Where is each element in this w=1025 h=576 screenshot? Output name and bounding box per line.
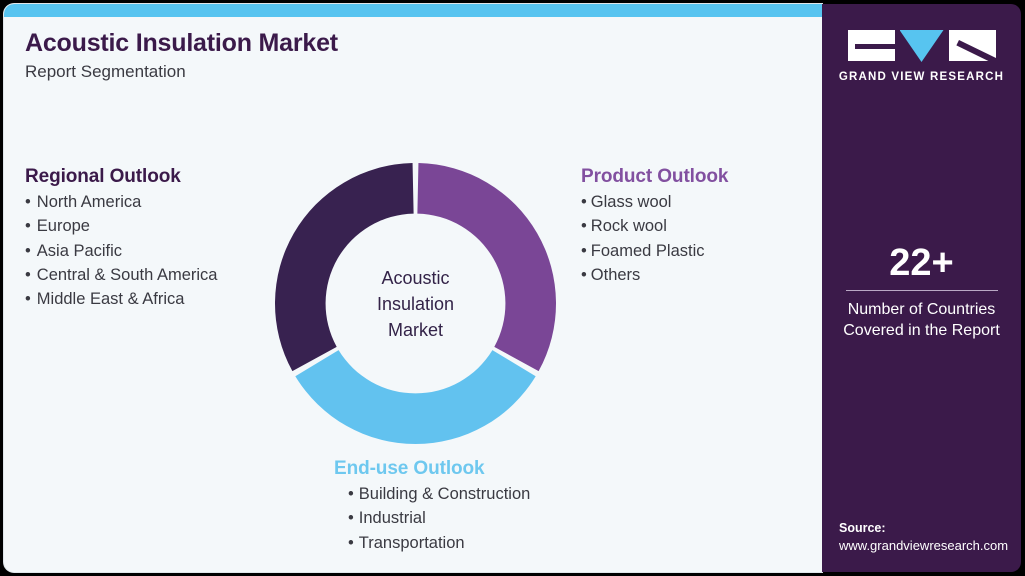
regional-outlook-list: North America Europe Asia Pacific Centra… bbox=[25, 190, 217, 311]
enduse-outlook-heading: End-use Outlook bbox=[334, 458, 530, 480]
stat-divider bbox=[846, 290, 998, 291]
list-item: North America bbox=[25, 190, 217, 214]
list-item: Rock wool bbox=[581, 214, 728, 238]
logo-v-triangle-icon bbox=[900, 30, 944, 62]
donut-segment-regional bbox=[275, 163, 414, 371]
list-item: Transportation bbox=[348, 531, 530, 555]
list-item: Middle East & Africa bbox=[25, 287, 217, 311]
countries-stat: 22+ Number of Countries Covered in the R… bbox=[822, 242, 1021, 341]
donut-svg bbox=[275, 163, 556, 444]
logo-marks bbox=[822, 30, 1021, 62]
product-outlook-block: Product Outlook Glass wool Rock wool Foa… bbox=[581, 166, 728, 287]
regional-outlook-heading: Regional Outlook bbox=[25, 166, 217, 188]
segmentation-donut-chart: Acoustic Insulation Market bbox=[275, 163, 556, 444]
product-outlook-list: Glass wool Rock wool Foamed Plastic Othe… bbox=[581, 190, 728, 287]
donut-segment-enduse bbox=[295, 350, 535, 444]
regional-outlook-block: Regional Outlook North America Europe As… bbox=[25, 166, 217, 311]
gvr-logo: GRAND VIEW RESEARCH bbox=[822, 30, 1021, 83]
poster-root: Acoustic Insulation Market Report Segmen… bbox=[0, 0, 1025, 576]
list-item: Glass wool bbox=[581, 190, 728, 214]
source-block: Source: www.grandviewresearch.com bbox=[839, 519, 1008, 555]
logo-g-icon bbox=[848, 30, 895, 61]
list-item: Industrial bbox=[348, 506, 530, 530]
product-outlook-heading: Product Outlook bbox=[581, 166, 728, 188]
enduse-outlook-block: End-use Outlook Building & Construction … bbox=[334, 458, 530, 555]
stat-label-line-1: Number of Countries bbox=[822, 299, 1021, 320]
list-item: Foamed Plastic bbox=[581, 239, 728, 263]
list-item: Asia Pacific bbox=[25, 239, 217, 263]
stat-label: Number of Countries Covered in the Repor… bbox=[822, 299, 1021, 341]
page-subtitle: Report Segmentation bbox=[25, 62, 186, 82]
enduse-outlook-list: Building & Construction Industrial Trans… bbox=[334, 482, 530, 555]
source-url[interactable]: www.grandviewresearch.com bbox=[839, 537, 1008, 555]
source-label: Source: bbox=[839, 519, 1008, 537]
logo-r-icon bbox=[949, 30, 996, 61]
donut-segment-product bbox=[417, 163, 556, 371]
main-card: Acoustic Insulation Market Report Segmen… bbox=[4, 4, 822, 572]
list-item: Central & South America bbox=[25, 263, 217, 287]
list-item: Others bbox=[581, 263, 728, 287]
stat-label-line-2: Covered in the Report bbox=[822, 320, 1021, 341]
logo-wordmark: GRAND VIEW RESEARCH bbox=[822, 71, 1021, 83]
list-item: Europe bbox=[25, 214, 217, 238]
stat-value: 22+ bbox=[822, 242, 1021, 284]
top-accent-bar bbox=[4, 4, 822, 17]
page-title: Acoustic Insulation Market bbox=[25, 29, 338, 58]
list-item: Building & Construction bbox=[348, 482, 530, 506]
brand-panel: GRAND VIEW RESEARCH 22+ Number of Countr… bbox=[822, 4, 1021, 572]
